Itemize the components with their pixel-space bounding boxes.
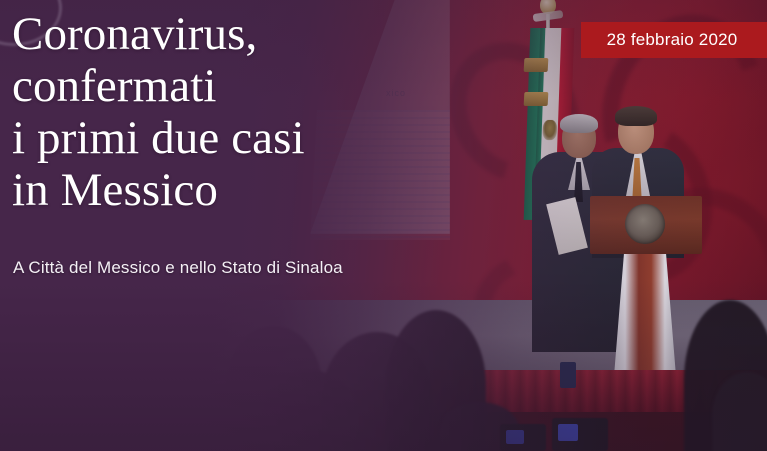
news-hero-card: xico [0,0,767,451]
headline-line-3: i primi due casi [12,112,442,164]
page-title: Coronavirus, confermati i primi due casi… [12,8,442,216]
date-badge-label: 28 febbraio 2020 [607,30,738,50]
headline-line-2: confermati [12,60,442,112]
date-badge: 28 febbraio 2020 [581,22,767,58]
subtitle: A Città del Messico e nello Stato di Sin… [13,258,343,278]
headline-line-4: in Messico [12,164,442,216]
headline-line-1: Coronavirus, [12,8,442,60]
